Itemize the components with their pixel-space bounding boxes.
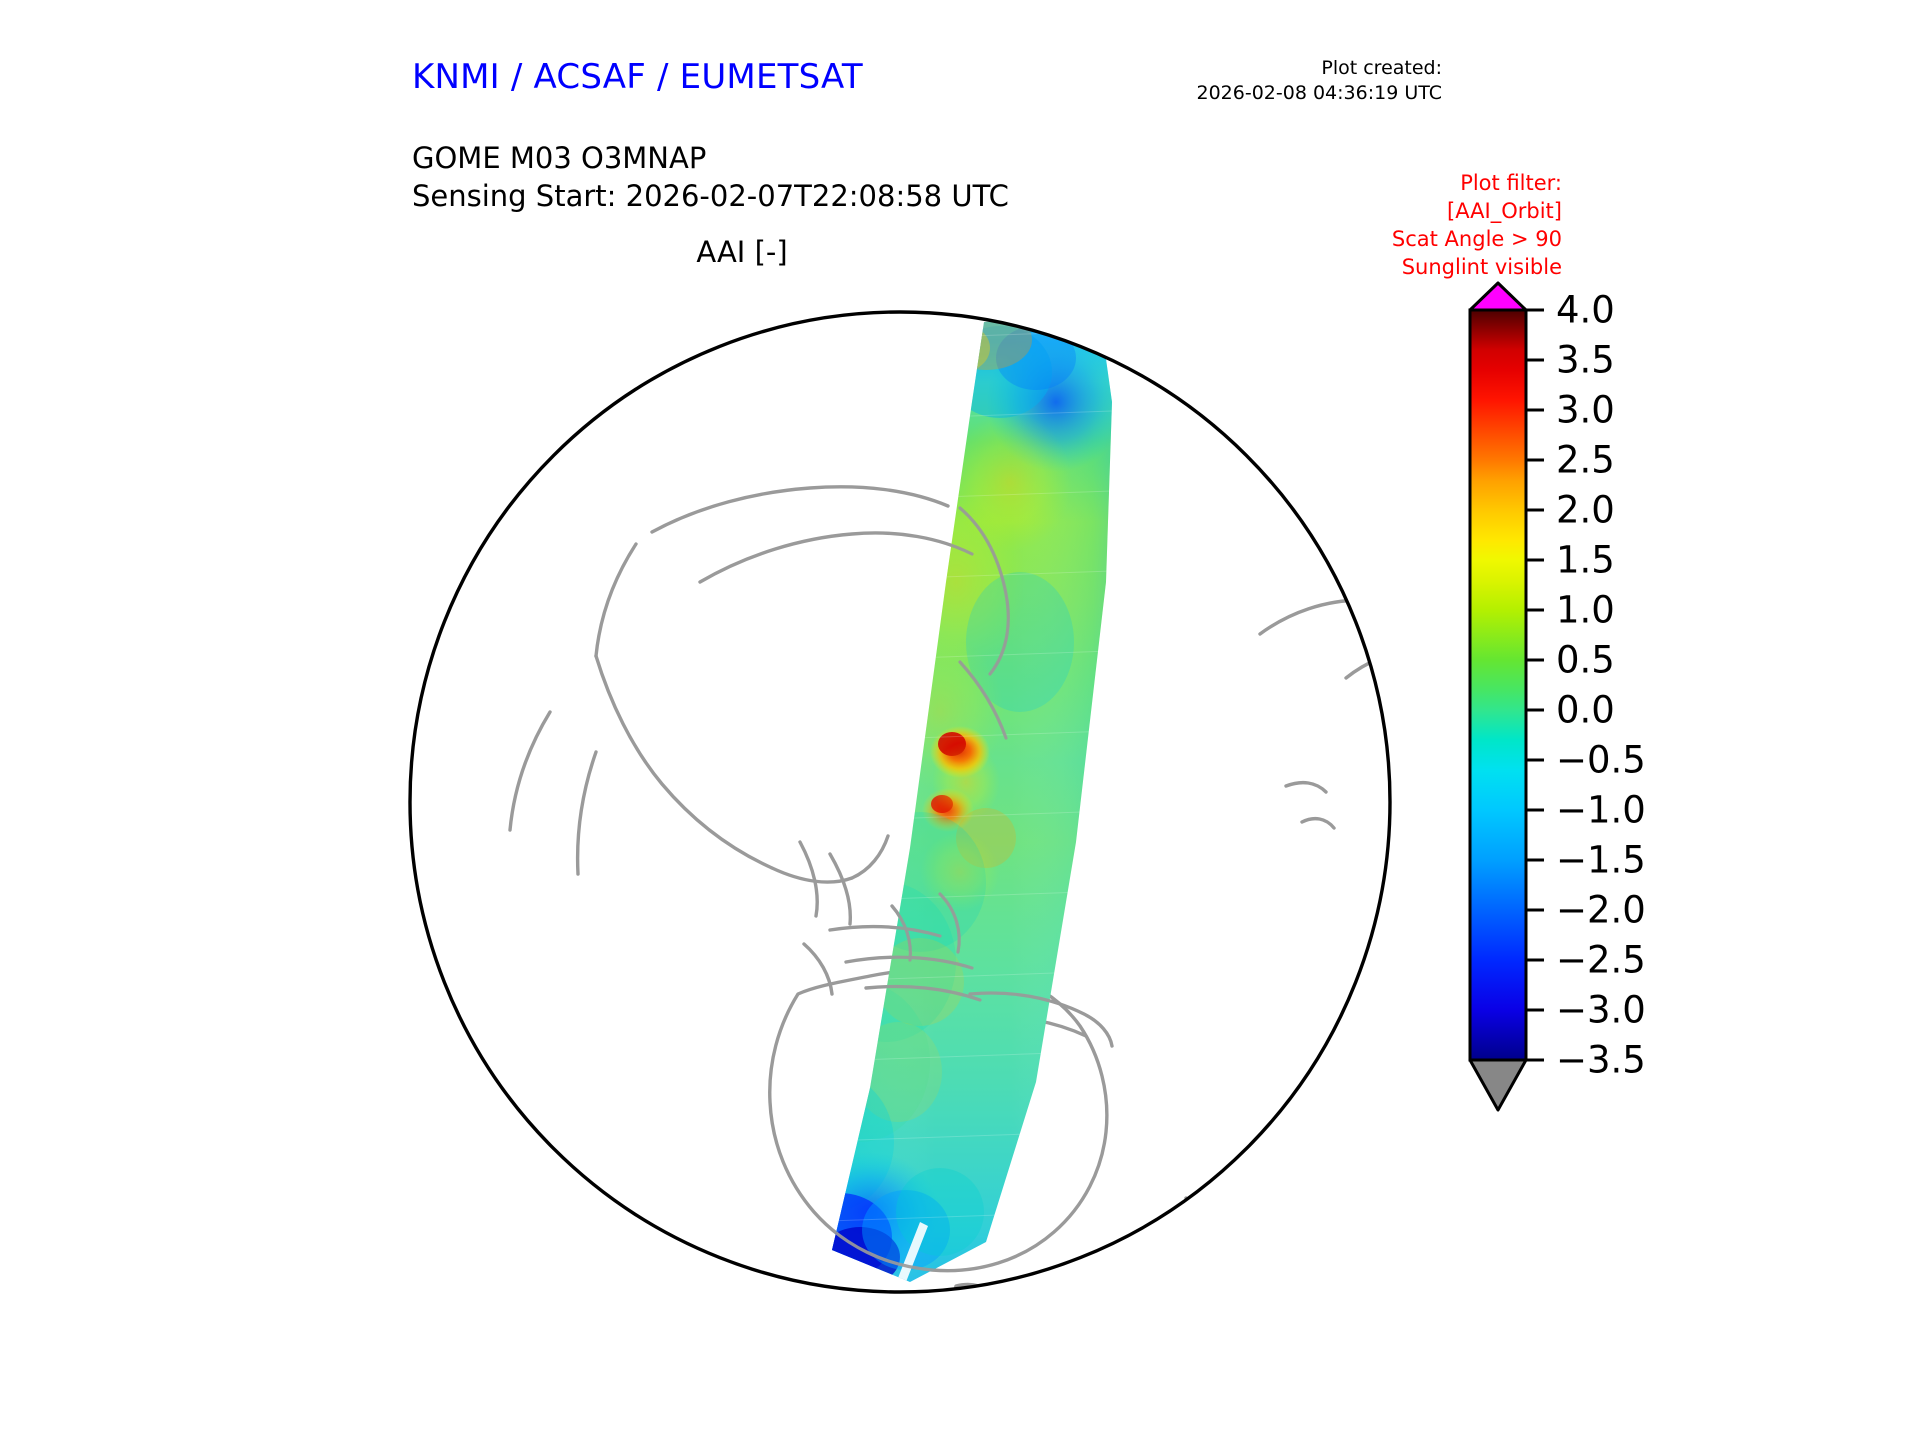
colorbar-tick-label: −2.0 <box>1556 889 1646 932</box>
sensing-start-title: Sensing Start: 2026-02-07T22:08:58 UTC <box>412 178 1009 216</box>
plot-filter-scat-angle: Scat Angle > 90 <box>1392 226 1562 254</box>
plot-created-block: Plot created: 2026-02-08 04:36:19 UTC <box>1197 56 1443 105</box>
colorbar-tick-labels: 4.0 3.5 3.0 2.5 2.0 1.5 1.0 0.5 0.0 −0.5… <box>1556 289 1646 1082</box>
plot-filter-block: Plot filter: [AAI_Orbit] Scat Angle > 90… <box>1392 170 1562 282</box>
map-panel <box>400 282 1400 1322</box>
colorbar-tick-label: 2.5 <box>1556 439 1615 482</box>
colorbar-tick-label: −3.5 <box>1556 1039 1646 1082</box>
colorbar-tick-label: 1.0 <box>1556 589 1615 632</box>
colorbar-tick-label: 1.5 <box>1556 539 1615 582</box>
plot-filter-sunglint: Sunglint visible <box>1392 254 1562 282</box>
plot-title-block: GOME M03 O3MNAP Sensing Start: 2026-02-0… <box>412 140 1009 215</box>
plot-filter-label: Plot filter: <box>1392 170 1562 198</box>
plot-created-timestamp: 2026-02-08 04:36:19 UTC <box>1197 81 1443 106</box>
organization-title: KNMI / ACSAF / EUMETSAT <box>412 57 863 97</box>
colorbar: 4.0 3.5 3.0 2.5 2.0 1.5 1.0 0.5 0.0 −0.5… <box>1440 280 1700 1120</box>
colorbar-ticks <box>1526 310 1544 1060</box>
colorbar-tick-label: 3.5 <box>1556 339 1615 382</box>
colorbar-tick-label: −1.0 <box>1556 789 1646 832</box>
colorbar-tick-label: 4.0 <box>1556 289 1615 332</box>
plot-filter-name: [AAI_Orbit] <box>1392 198 1562 226</box>
colorbar-tick-label: −1.5 <box>1556 839 1646 882</box>
colorbar-tick-label: 0.0 <box>1556 689 1615 732</box>
plot-created-label: Plot created: <box>1197 56 1443 81</box>
colorbar-over-arrow <box>1470 283 1526 310</box>
instrument-title: GOME M03 O3MNAP <box>412 140 1009 178</box>
colorbar-tick-label: −0.5 <box>1556 739 1646 782</box>
colorbar-tick-label: −3.0 <box>1556 989 1646 1032</box>
colorbar-tick-label: 2.0 <box>1556 489 1615 532</box>
orthographic-globe-map <box>400 282 1400 1322</box>
colorbar-gradient <box>1470 310 1526 1060</box>
colorbar-tick-label: −2.5 <box>1556 939 1646 982</box>
colorbar-panel: 4.0 3.5 3.0 2.5 2.0 1.5 1.0 0.5 0.0 −0.5… <box>1440 280 1700 1120</box>
colorbar-tick-label: 3.0 <box>1556 389 1615 432</box>
colorbar-tick-label: 0.5 <box>1556 639 1615 682</box>
colorbar-under-arrow <box>1470 1060 1526 1110</box>
variable-title: AAI [-] <box>412 235 1072 269</box>
